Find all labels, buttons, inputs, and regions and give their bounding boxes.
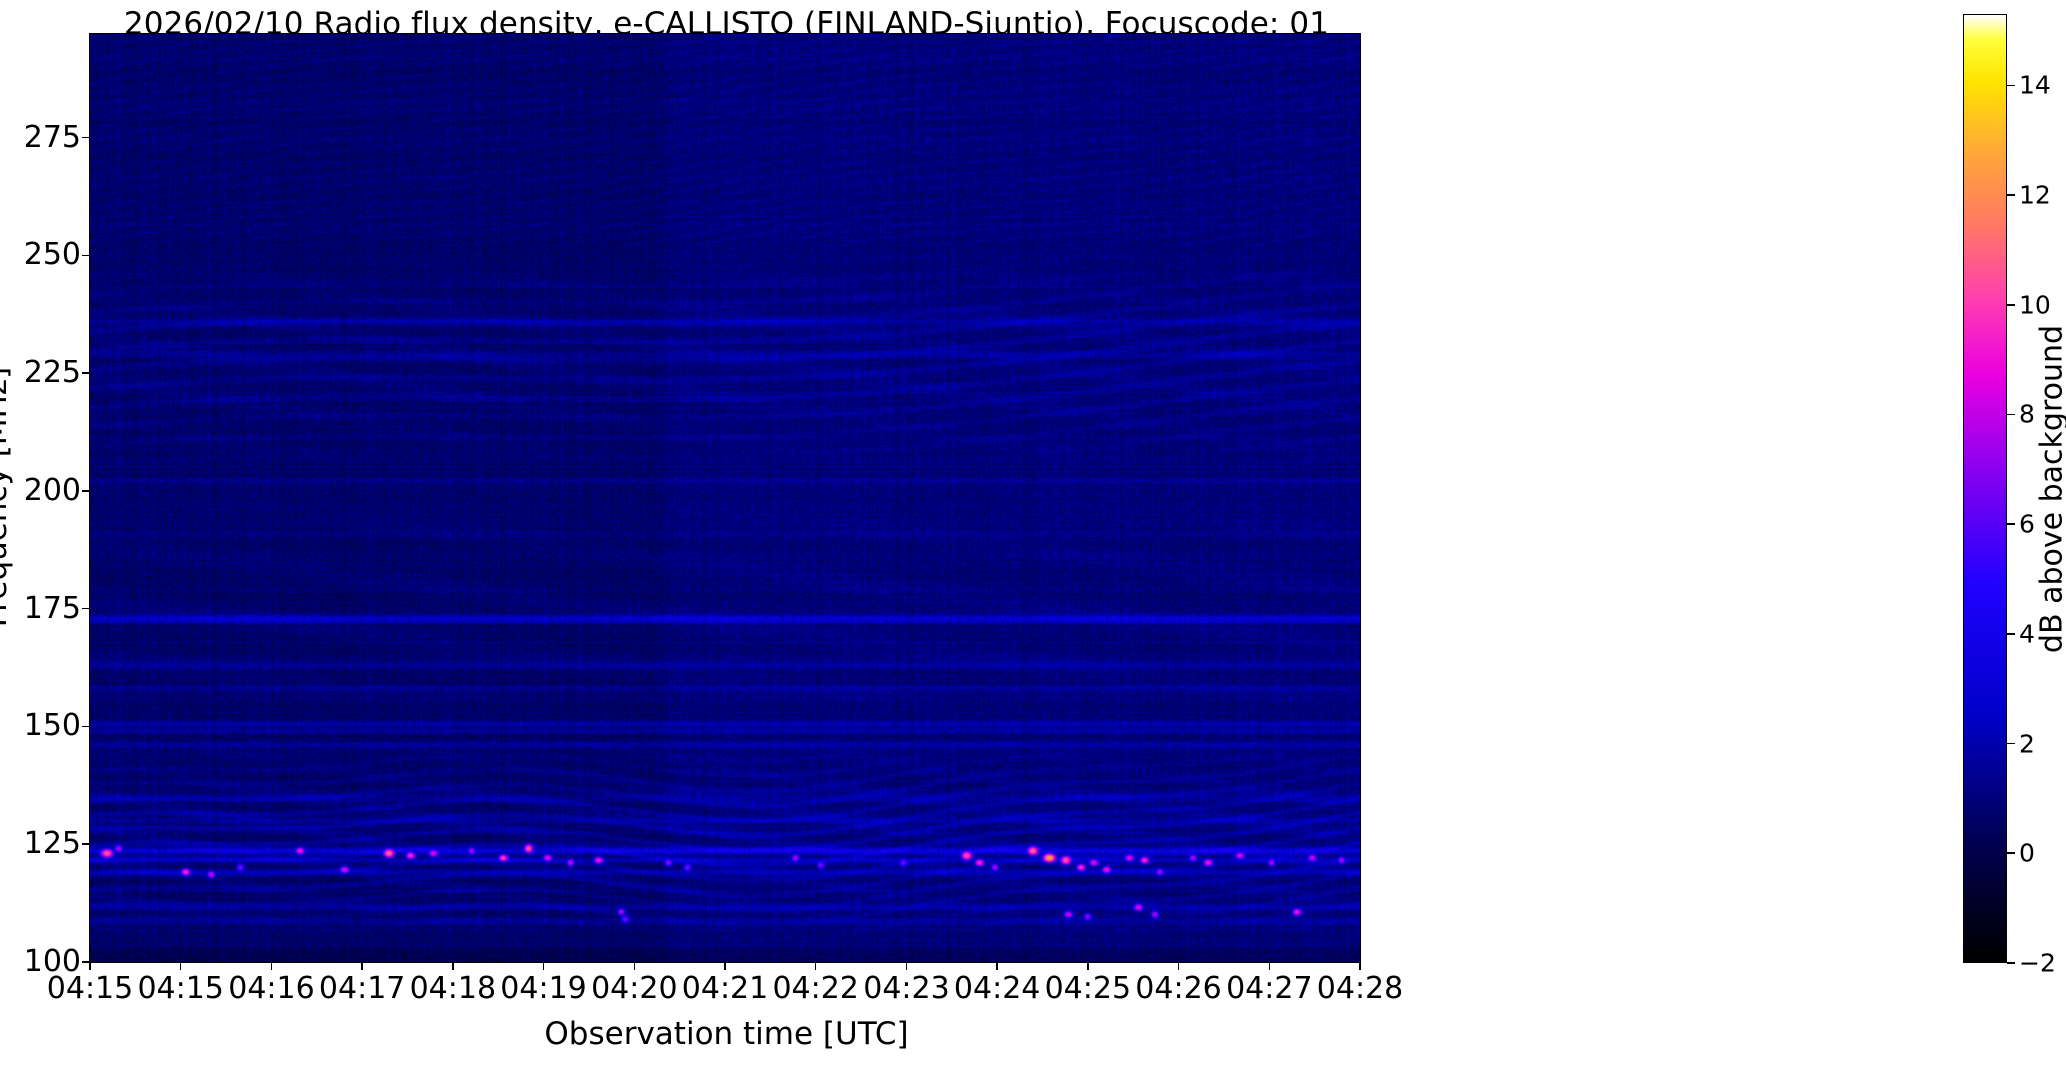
x-tick-label: 04:27: [1226, 972, 1312, 1006]
x-tick-label: 04:22: [772, 972, 858, 1006]
x-tick-mark: [1359, 963, 1361, 970]
colorbar-tick-label: 2: [2019, 731, 2035, 756]
colorbar-tick-mark: [2007, 962, 2015, 964]
y-tick-mark: [82, 372, 89, 374]
y-tick-mark: [82, 608, 89, 610]
colorbar-tick-mark: [2007, 852, 2015, 854]
x-tick-label: 04:16: [228, 972, 314, 1006]
y-tick-label: 275: [24, 123, 81, 153]
x-tick-mark: [1087, 963, 1089, 970]
x-tick-label: 04:25: [1045, 972, 1131, 1006]
x-tick-mark: [906, 963, 908, 970]
x-tick-label: 04:15: [47, 972, 133, 1006]
colorbar-tick-label: 14: [2019, 73, 2051, 98]
x-tick-mark: [271, 963, 273, 970]
spectrogram-heatmap: [90, 34, 1360, 962]
colorbar-tick-label: 6: [2019, 512, 2035, 537]
y-tick-label: 125: [24, 829, 81, 859]
colorbar-label: dB above background: [2035, 209, 2066, 769]
colorbar-tick-label: 8: [2019, 402, 2035, 427]
y-tick-mark: [82, 843, 89, 845]
colorbar-tick-mark: [2007, 633, 2015, 635]
y-axis-label: Frequency [MHz]: [0, 267, 14, 727]
x-axis-label: Observation time [UTC]: [0, 1016, 1453, 1052]
spectrogram-page: 2026/02/10 Radio flux density, e-CALLIST…: [0, 0, 2066, 1067]
colorbar-tick-mark: [2007, 304, 2015, 306]
y-tick-label: 175: [24, 594, 81, 624]
colorbar-tick-label: 4: [2019, 621, 2035, 646]
colorbar: [1963, 14, 2007, 963]
y-tick-mark: [82, 726, 89, 728]
colorbar-tick-label: −2: [2019, 951, 2056, 976]
colorbar-tick-mark: [2007, 85, 2015, 87]
colorbar-gradient: [1963, 14, 2007, 963]
colorbar-tick-mark: [2007, 414, 2015, 416]
x-tick-mark: [634, 963, 636, 970]
x-tick-label: 04:23: [863, 972, 949, 1006]
x-tick-mark: [361, 963, 363, 970]
x-tick-mark: [1269, 963, 1271, 970]
x-tick-mark: [543, 963, 545, 970]
x-tick-mark: [452, 963, 454, 970]
x-tick-label: 04:19: [500, 972, 586, 1006]
y-tick-label: 225: [24, 358, 81, 388]
x-tick-label: 04:24: [954, 972, 1040, 1006]
colorbar-tick-label: 12: [2019, 183, 2051, 208]
x-tick-label: 04:20: [591, 972, 677, 1006]
x-tick-mark: [815, 963, 817, 970]
y-tick-mark: [82, 490, 89, 492]
y-tick-mark: [82, 255, 89, 257]
x-tick-label: 04:26: [1135, 972, 1221, 1006]
x-tick-mark: [724, 963, 726, 970]
x-tick-label: 04:18: [410, 972, 496, 1006]
x-tick-mark: [180, 963, 182, 970]
colorbar-tick-mark: [2007, 523, 2015, 525]
colorbar-tick-mark: [2007, 743, 2015, 745]
x-tick-label: 04:21: [682, 972, 768, 1006]
x-tick-mark: [1178, 963, 1180, 970]
x-tick-label: 04:28: [1317, 972, 1403, 1006]
y-tick-label: 150: [24, 711, 81, 741]
spectrogram-axes: [89, 33, 1361, 963]
x-tick-label: 04:15: [137, 972, 223, 1006]
y-tick-mark: [82, 137, 89, 139]
x-tick-mark: [996, 963, 998, 970]
y-tick-label: 250: [24, 240, 81, 270]
x-tick-mark: [89, 963, 91, 970]
colorbar-tick-label: 0: [2019, 841, 2035, 866]
y-tick-mark: [82, 961, 89, 963]
y-tick-label: 200: [24, 476, 81, 506]
colorbar-tick-mark: [2007, 194, 2015, 196]
x-tick-label: 04:17: [319, 972, 405, 1006]
